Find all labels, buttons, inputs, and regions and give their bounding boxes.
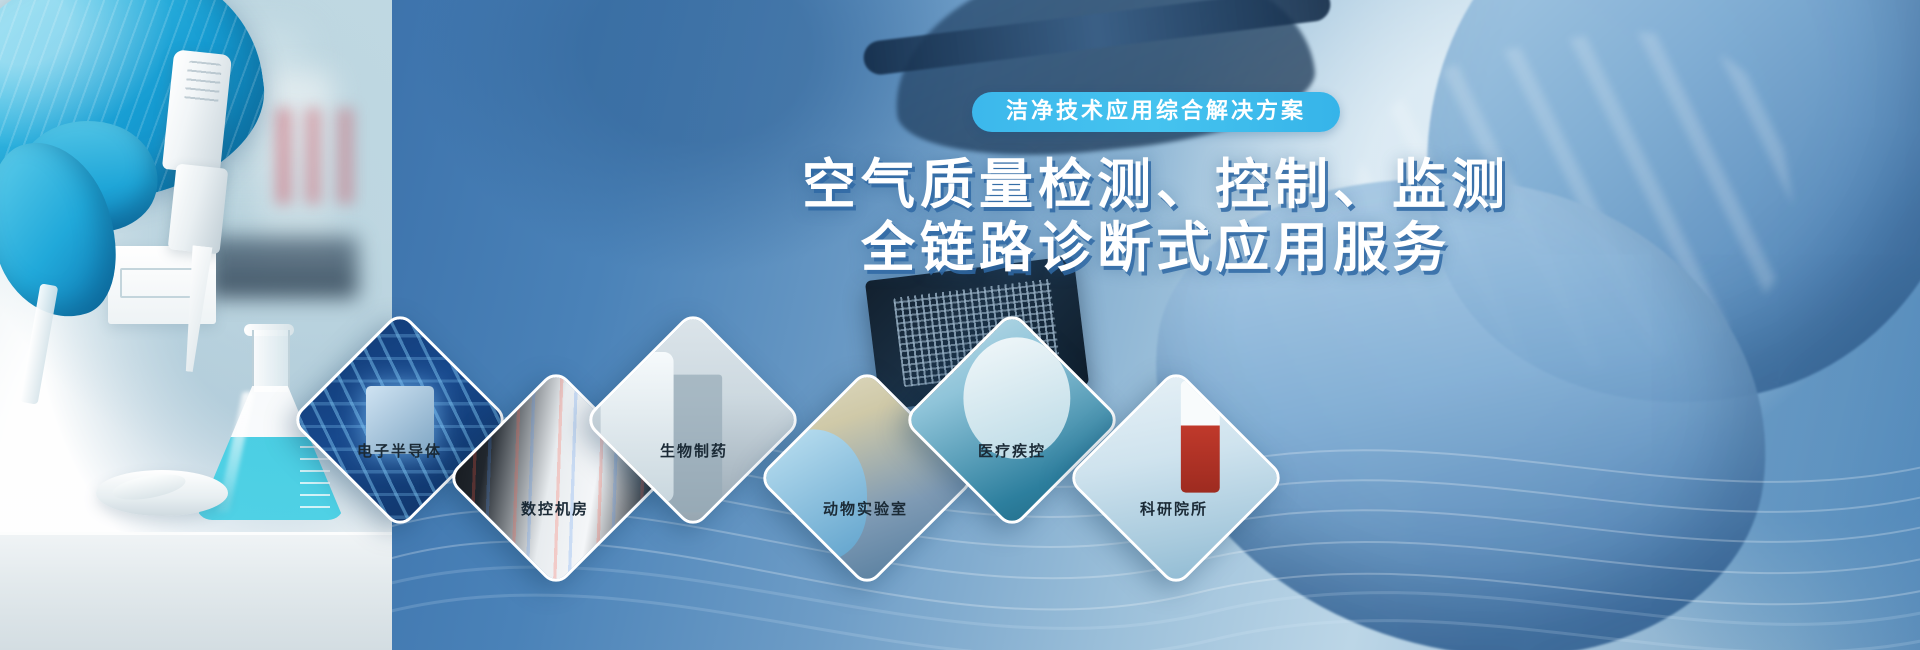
red-vials-blur [268, 108, 360, 204]
hero-text-block: 洁净技术应用综合解决方案 空气质量检测、控制、监测 全链路诊断式应用服务 [392, 92, 1920, 279]
industry-card-label-semiconductor: 电子半导体 [357, 440, 442, 461]
pipette-midsection [168, 164, 229, 255]
pipette-grip-rings [184, 60, 222, 107]
badge-tagline: 洁净技术应用综合解决方案 [972, 92, 1340, 132]
industry-card-label-biopharma: 生物制药 [660, 440, 728, 461]
industry-card-label-research: 科研院所 [1140, 498, 1208, 519]
industry-card-label-medical-cdc: 医疗疾控 [978, 440, 1046, 461]
dark-equipment-blur [208, 236, 358, 298]
industry-card-label-datacenter: 数控机房 [521, 498, 589, 519]
page-title: 空气质量检测、控制、监测 全链路诊断式应用服务 [392, 154, 1920, 279]
headline-line-2: 全链路诊断式应用服务 [392, 217, 1920, 280]
headline-line-1: 空气质量检测、控制、监测 [392, 154, 1920, 217]
industry-card-label-animal-lab: 动物实验室 [823, 498, 908, 519]
industry-card-strip: 电子半导体 数控机房 生物制药 动物实验室 医疗疾控 科研院所 [0, 320, 1920, 650]
hero-banner: 洁净技术应用综合解决方案 空气质量检测、控制、监测 全链路诊断式应用服务 电子半… [0, 0, 1920, 650]
